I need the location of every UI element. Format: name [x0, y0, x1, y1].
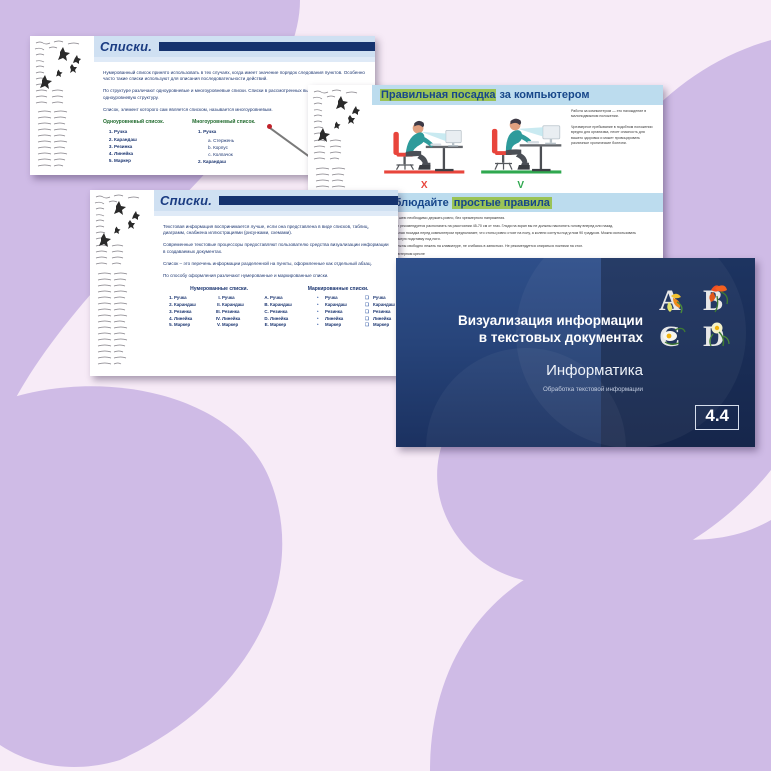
bullet-dot-icon: •: [317, 302, 325, 309]
title-slide-inner: Визуализация информации в текстовых доку…: [396, 258, 755, 447]
bulleted-list-square: ❑Ручка ❑Карандаш ❑Резинка ❑Линейка ❑Марк…: [365, 295, 398, 329]
posture-figures: X: [378, 109, 567, 181]
rule-text: Правильная посадка перед компьютером пре…: [384, 231, 656, 241]
numbered-list-roman: Ручка Карандаш Резинка Линейка Маркер: [211, 295, 255, 329]
good-posture-illustration-icon: [475, 109, 568, 181]
decorative-floral-letters-icon: A B C D: [657, 280, 743, 354]
rule-text: Руки должны свободно лежать на клавиатур…: [384, 244, 583, 249]
header-accent-bar: [219, 196, 398, 205]
list-item: Ручка Стержень Корпус Колпачок: [203, 128, 255, 157]
bullet-checkbox-icon: ❑: [365, 302, 373, 309]
list-item-label: Маркер: [325, 322, 341, 329]
list-item: •Маркер: [317, 322, 361, 329]
title-line-2: в текстовых документах: [418, 329, 643, 346]
list-item: Карандаш: [203, 158, 255, 165]
list: Ручка Карандаш Резинка Линейка Маркер: [259, 295, 303, 329]
bullet-dot-icon: •: [317, 309, 325, 316]
bullet-checkbox-icon: ❑: [365, 295, 373, 302]
list-item-label: Резинка: [373, 309, 390, 316]
bullet-checkbox-icon: ❑: [365, 322, 373, 329]
slide-lists-2-content: Текстовая информация воспринимается лучш…: [154, 216, 398, 333]
paragraph: По способу оформления различают нумерова…: [163, 273, 389, 279]
bulleted-lists-group: •Ручка •Карандаш •Резинка •Линейка •Марк…: [317, 295, 398, 329]
list-item: Линейка: [174, 316, 207, 323]
list-item: ❑Маркер: [365, 322, 398, 329]
title-slide-title: Визуализация информации в текстовых доку…: [418, 312, 643, 347]
bullet-checkbox-icon: ❑: [365, 316, 373, 323]
list-item: Резинка: [270, 309, 303, 316]
bullet-dot-icon: •: [317, 295, 325, 302]
multi-level-list: Ручка Стержень Корпус Колпачок Карандаш: [192, 128, 255, 165]
rule-item: ▪Спину и шею необходимо держать ровно, б…: [379, 216, 656, 221]
slide-lists-2-body: Списки. Текстовая информация воспринимае…: [154, 190, 398, 376]
list-item-label: Маркер: [373, 322, 389, 329]
side-paragraph: Работа за компьютером — это нахождение в…: [571, 109, 657, 120]
list-item-label: Ручка: [325, 295, 338, 302]
bad-posture-mark: X: [421, 180, 428, 191]
paragraph: Текстовая информация воспринимается лучш…: [163, 224, 389, 236]
rule-item: ▪Руки должны свободно лежать на клавиату…: [379, 244, 656, 249]
figure-good-posture: V: [475, 109, 568, 181]
column-heading: Одноуровневый список.: [103, 119, 164, 126]
list: Ручка Карандаш Резинка Линейка Маркер: [163, 295, 207, 329]
list-item: Маркер: [222, 322, 255, 329]
posture-side-text: Работа за компьютером — это нахождение в…: [567, 109, 657, 181]
list-item: Карандаш: [114, 136, 164, 143]
list-item: Линейка: [222, 316, 255, 323]
screenshot-canvas: Списки. Нумерованный список принято испо…: [0, 0, 771, 771]
title-slide-subject: Информатика: [418, 362, 643, 379]
rules-list: ▪Спину и шею необходимо держать ровно, б…: [372, 212, 663, 257]
numbered-list-alpha: Ручка Карандаш Резинка Линейка Маркер: [259, 295, 303, 329]
column-single-level: Одноуровневый список. Ручка Карандаш Рез…: [103, 119, 164, 165]
rule-item: ▪Монитор рекомендуется располагать на ра…: [379, 224, 656, 229]
list-item-label: Ручка: [373, 295, 386, 302]
figure-bad-posture: X: [378, 109, 471, 181]
column-multi-level: Многоуровневый список. Ручка Стержень Ко…: [192, 119, 255, 165]
slide-header: Списки.: [154, 190, 398, 211]
rule-item: ▪В компьютерном кресле: [379, 252, 656, 257]
sub-list: Стержень Корпус Колпачок: [203, 137, 255, 158]
list-item: Линейка: [114, 150, 164, 157]
list-item: Маркер: [174, 322, 207, 329]
list-item: ❑Карандаш: [365, 302, 398, 309]
lists-samples: Ручка Карандаш Резинка Линейка Маркер Ру…: [163, 295, 389, 329]
sub-list-item: Стержень: [213, 137, 255, 144]
list-item: Карандаш: [270, 302, 303, 309]
list-item: ❑Линейка: [365, 316, 398, 323]
rules-header-highlight: простые правила: [452, 197, 552, 209]
good-posture-mark: V: [517, 180, 524, 191]
list-item-label: Карандаш: [373, 302, 395, 309]
list-item: ❑Резинка: [365, 309, 398, 316]
title-slide-number-badge: 4.4: [695, 405, 739, 430]
list-item: Ручка: [114, 128, 164, 135]
bullet-dot-icon: •: [317, 316, 325, 323]
paragraph: Список – это перечень информации разделе…: [163, 261, 389, 267]
title-slide-caption: Обработка текстовой информации: [418, 386, 643, 393]
list-item: •Ручка: [317, 295, 361, 302]
single-level-list: Ручка Карандаш Резинка Линейка Маркер: [103, 128, 164, 164]
numbered-list-decimal: Ручка Карандаш Резинка Линейка Маркер: [163, 295, 207, 329]
paragraph: Нумерованный список принято использовать…: [103, 70, 366, 82]
list-item-label: Линейка: [325, 316, 343, 323]
numbered-lists-heading: Нумерованные списки.: [163, 286, 275, 292]
side-paragraph: Чрезмерное пребывание в подобном положен…: [571, 125, 657, 147]
list-item: Ручка: [222, 295, 255, 302]
slide-header: Списки.: [94, 36, 375, 57]
list-item: Резинка: [114, 143, 164, 150]
list-item: Карандаш: [222, 302, 255, 309]
list-item: ❑Ручка: [365, 295, 398, 302]
list-item-label: Ручка: [203, 129, 216, 134]
list: Ручка Карандаш Резинка Линейка Маркер: [211, 295, 255, 329]
bulleted-lists-heading: Маркированные списки.: [287, 286, 389, 292]
bad-posture-illustration-icon: [378, 109, 471, 181]
list-item: Маркер: [114, 157, 164, 164]
scribble-texture-icon: [30, 36, 94, 175]
list-item: •Карандаш: [317, 302, 361, 309]
list-item: Линейка: [270, 316, 303, 323]
decorative-handwriting-column: [90, 190, 154, 376]
header-accent-bar: [159, 42, 375, 51]
posture-header-rest: за компьютером: [499, 89, 589, 101]
numbered-lists-group: Ручка Карандаш Резинка Линейка Маркер Ру…: [163, 295, 307, 329]
bulleted-list-dot: •Ручка •Карандаш •Резинка •Линейка •Марк…: [317, 295, 361, 329]
list-item-label: Линейка: [373, 316, 391, 323]
slide-posture-body: Правильная посадка за компьютером: [372, 85, 663, 264]
list-item-label: Карандаш: [325, 302, 347, 309]
slide-title[interactable]: Визуализация информации в текстовых доку…: [396, 258, 755, 447]
rule-item: ▪Правильная посадка перед компьютером пр…: [379, 231, 656, 241]
slide-header-title: Списки.: [100, 39, 152, 54]
pointer-dot-icon: [267, 124, 272, 129]
list-item: Ручка: [270, 295, 303, 302]
scribble-texture-icon: [90, 190, 154, 376]
list-item-label: Резинка: [325, 309, 342, 316]
sub-list-item: Корпус: [213, 144, 255, 151]
title-line-1: Визуализация информации: [418, 312, 643, 329]
posture-header-highlight: Правильная посадка: [380, 89, 496, 101]
list-item: Резинка: [222, 309, 255, 316]
rule-text: Монитор рекомендуется располагать на рас…: [384, 224, 613, 229]
column-heading: Многоуровневый список.: [192, 119, 255, 126]
lists-headings: Нумерованные списки. Маркированные списк…: [163, 286, 389, 292]
list-item: Карандаш: [174, 302, 207, 309]
posture-header: Правильная посадка за компьютером: [372, 85, 663, 105]
list-item: Ручка: [174, 295, 207, 302]
bullet-checkbox-icon: ❑: [365, 309, 373, 316]
slide-header-title: Списки.: [160, 193, 212, 208]
rules-header: Соблюдайте простые правила: [372, 193, 663, 212]
decorative-handwriting-column: [30, 36, 94, 175]
list-item: Резинка: [174, 309, 207, 316]
sub-list-item: Колпачок: [213, 151, 255, 158]
list-item: •Резинка: [317, 309, 361, 316]
posture-figures-row: X: [372, 105, 663, 181]
rule-text: Спину и шею необходимо держать ровно, бе…: [384, 216, 505, 221]
paragraph: Современные текстовые процессоры предост…: [163, 242, 389, 254]
list-item: •Линейка: [317, 316, 361, 323]
list-item: Маркер: [270, 322, 303, 329]
bullet-dot-icon: •: [317, 322, 325, 329]
slide-lists-2[interactable]: Списки. Текстовая информация воспринимае…: [90, 190, 398, 376]
